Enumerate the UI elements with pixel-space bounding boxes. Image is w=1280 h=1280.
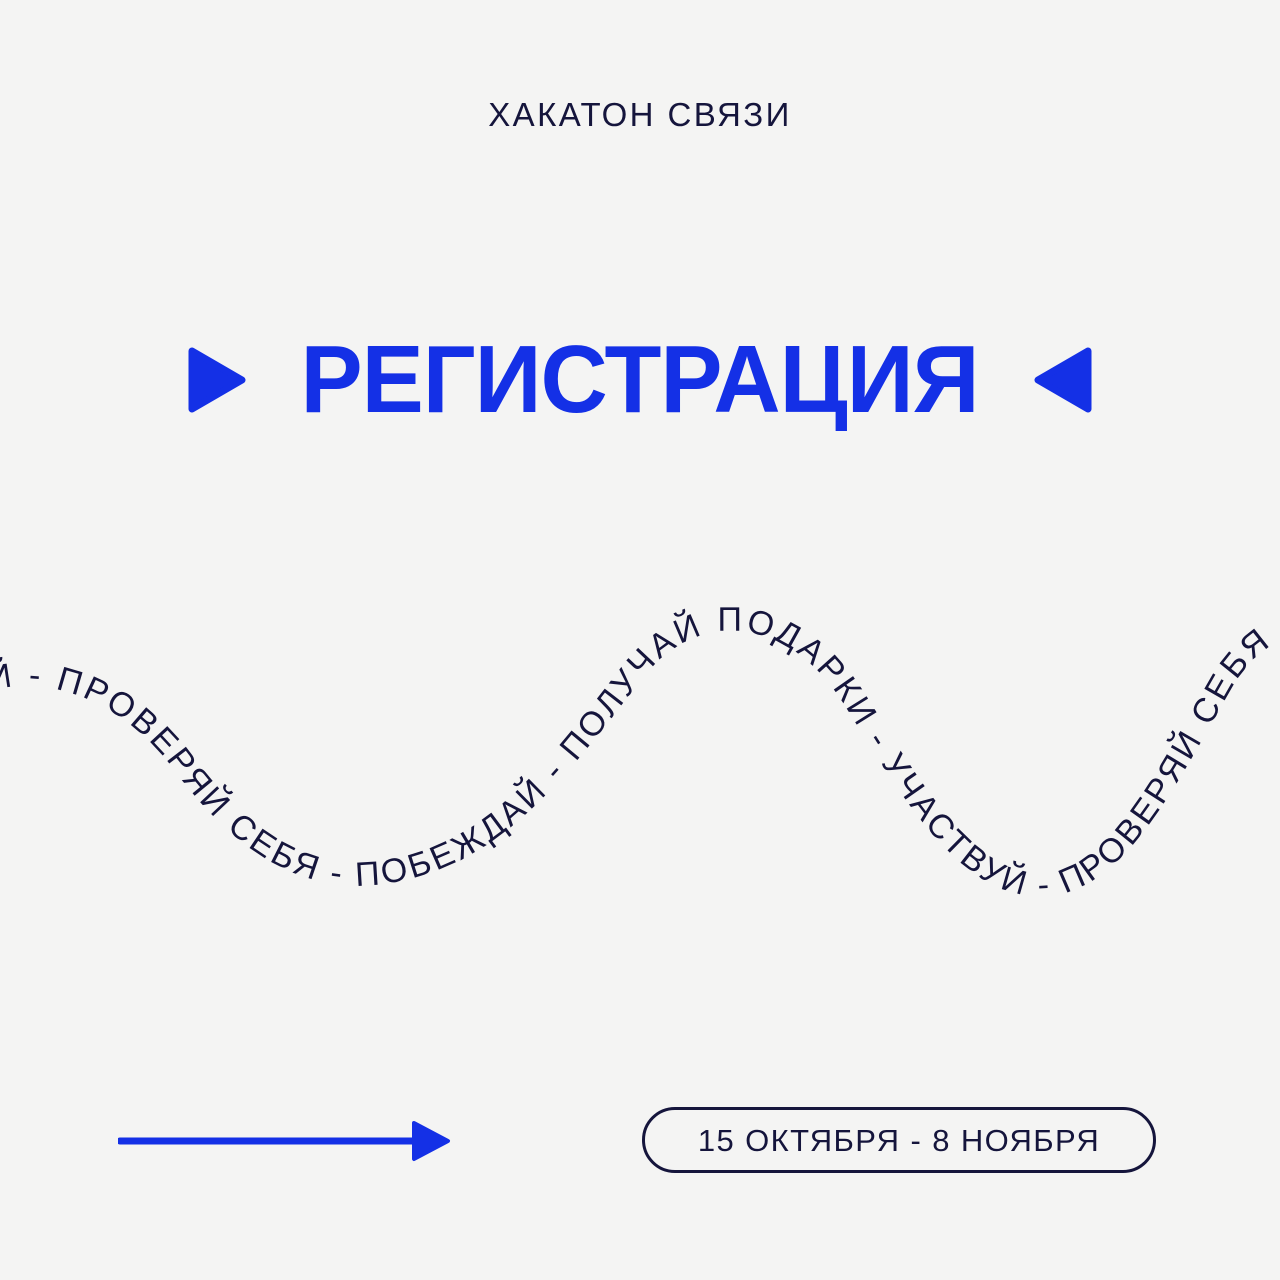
hero-headline-row: РЕГИСТРАЦИЯ xyxy=(0,330,1280,430)
arrow-right-icon xyxy=(118,1116,454,1166)
triangle-right-icon xyxy=(188,347,246,413)
page-title: РЕГИСТРАЦИЯ xyxy=(301,332,979,428)
date-range-label: 15 ОКТЯБРЯ - 8 НОЯБРЯ xyxy=(698,1125,1100,1156)
date-range-badge[interactable]: 15 ОКТЯБРЯ - 8 НОЯБРЯ xyxy=(642,1107,1156,1173)
wavy-slogan-tspan: УЧАСТВУЙ - ПРОВЕРЯЙ СЕБЯ - ПОБЕЖДАЙ - ПО… xyxy=(0,566,1280,904)
wavy-slogan-marquee: УЧАСТВУЙ - ПРОВЕРЯЙ СЕБЯ - ПОБЕЖДАЙ - ПО… xyxy=(0,596,1280,946)
triangle-left-icon xyxy=(1034,347,1092,413)
wavy-slogan-text: УЧАСТВУЙ - ПРОВЕРЯЙ СЕБЯ - ПОБЕЖДАЙ - ПО… xyxy=(0,566,1280,904)
eyebrow-text: ХАКАТОН СВЯЗИ xyxy=(0,98,1280,131)
poster-canvas: ХАКАТОН СВЯЗИ РЕГИСТРАЦИЯ УЧАСТВУЙ - ПРО… xyxy=(0,0,1280,1280)
